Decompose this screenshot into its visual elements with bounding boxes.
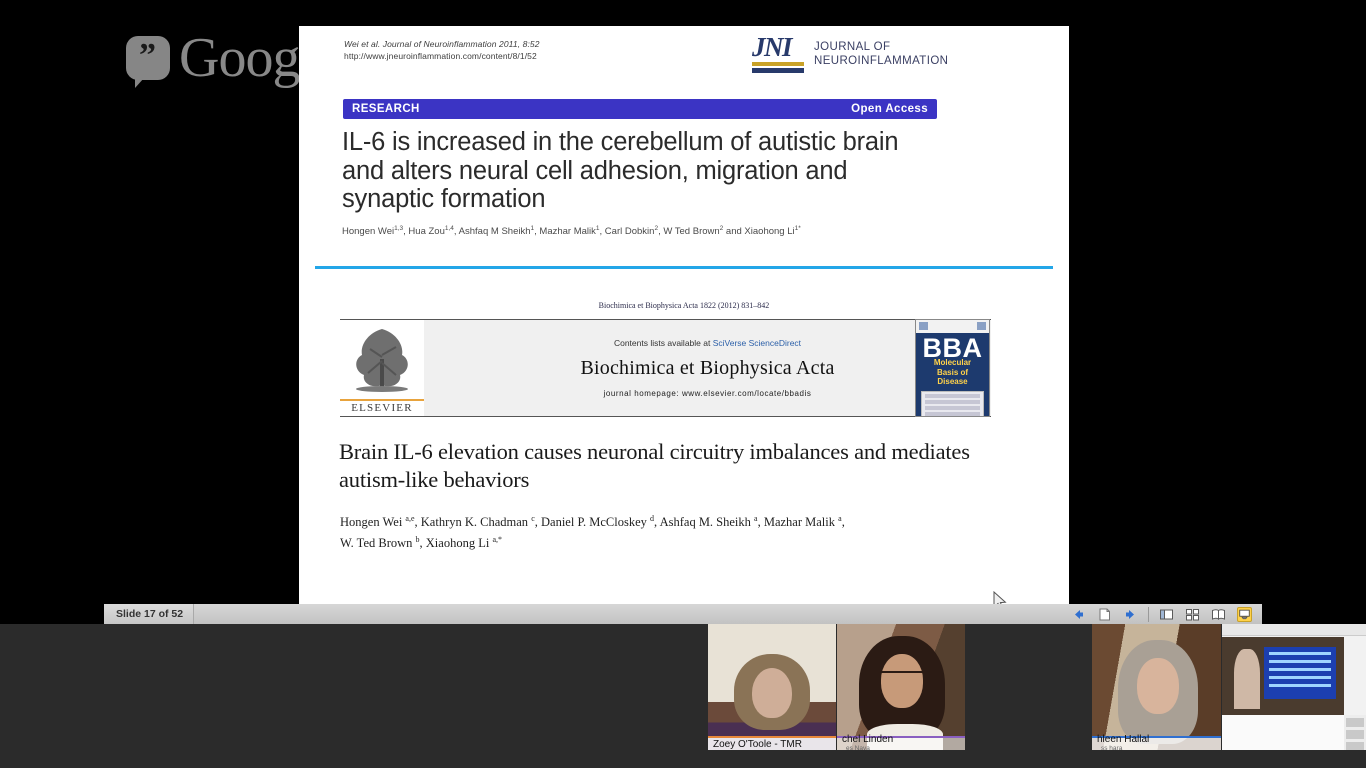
participant-name-stack-3: hleen Hallal ss hara — [1097, 735, 1149, 750]
bba-homepage: journal homepage: www.elsevier.com/locat… — [604, 389, 812, 398]
bba-cover-thumbnail: BBA Molecular Basis of Disease — [915, 319, 990, 417]
jni-article-authors: Hongen Wei1,3, Hua Zou1,4, Ashfaq M Shei… — [342, 222, 962, 238]
research-open-access-bar: RESEARCH Open Access — [343, 99, 937, 119]
jni-reference-line1: Wei et al. Journal of Neuroinflammation … — [344, 38, 774, 50]
quote-glyph: ” — [126, 36, 170, 80]
shared-screen-viewer[interactable]: Wei et al. Journal of Neuroinflammation … — [299, 26, 1069, 604]
reading-view-button[interactable] — [1211, 607, 1226, 622]
lecture-video-frame — [1222, 637, 1344, 715]
avatar-glasses — [881, 671, 923, 679]
elsevier-logo: ELSEVIER — [340, 320, 424, 416]
jni-logo: JNI JOURNAL OF NEUROINFLAMMATION — [752, 34, 948, 73]
bba-article-title: Brain IL-6 elevation causes neuronal cir… — [339, 438, 1039, 494]
jni-logo-name: JOURNAL OF NEUROINFLAMMATION — [814, 40, 948, 68]
presentation-slide: Wei et al. Journal of Neuroinflammation … — [299, 26, 1069, 604]
avatar-face — [1137, 658, 1179, 714]
slide-menu-button[interactable] — [1097, 607, 1112, 622]
participant-filmstrip: Zoey O'Toole - TMR chel Linden es Nava L… — [0, 624, 1366, 768]
jni-logo-rule-gold — [752, 62, 804, 66]
bba-citation: Biochimica et Biophysica Acta 1822 (2012… — [299, 301, 1069, 310]
lecturer-figure — [1234, 649, 1260, 709]
slide-sorter-button[interactable] — [1185, 607, 1200, 622]
navigation-buttons — [1061, 607, 1148, 622]
projected-slide — [1264, 647, 1336, 699]
jni-logo-mark: JNI — [752, 34, 804, 73]
jni-logo-rule-navy — [752, 68, 804, 73]
bba-header-center: Contents lists available at SciVerse Sci… — [424, 320, 991, 416]
elsevier-wordmark: ELSEVIER — [340, 399, 424, 414]
participant-tile-3[interactable]: hleen Hallal ss hara — [1092, 624, 1221, 750]
elsevier-tree-icon — [346, 323, 418, 393]
view-mode-buttons — [1149, 607, 1262, 622]
participant-tile-2[interactable]: chel Linden es Nava — [837, 624, 965, 750]
related-videos-list — [1344, 715, 1366, 750]
browser-chrome-bar — [1222, 624, 1366, 636]
bba-article-authors: Hongen Wei a,e, Kathryn K. Chadman c, Da… — [340, 510, 1000, 552]
participant-name-2-label: chel Linden — [842, 735, 893, 744]
slide-divider-rule — [315, 266, 1053, 269]
jni-reference-line2: http://www.jneuroinflammation.com/conten… — [344, 50, 774, 62]
participant-video-2 — [837, 624, 965, 750]
participant-name-stack-2: chel Linden es Nava — [842, 735, 893, 750]
mouse-cursor — [993, 591, 1007, 604]
jni-reference: Wei et al. Journal of Neuroinflammation … — [344, 38, 774, 62]
avatar-face — [752, 668, 792, 718]
arrow-right-icon — [1123, 607, 1138, 622]
open-access-label: Open Access — [851, 103, 928, 115]
bba-cover-figure — [921, 391, 984, 418]
participant-video-4 — [1222, 624, 1366, 750]
jni-logo-name-line2: NEUROINFLAMMATION — [814, 54, 948, 68]
bba-cover-subtitle-2: Basis of — [916, 368, 989, 378]
slide-status: Slide 17 of 52 — [104, 604, 194, 624]
avatar-face — [881, 654, 923, 708]
hangouts-bubble-icon: ” — [126, 36, 170, 80]
research-label: RESEARCH — [352, 103, 420, 115]
bba-contents-prefix: Contents lists available at — [614, 338, 713, 348]
arrow-left-icon — [1071, 607, 1086, 622]
participant-subtitle-3: ss hara — [1101, 744, 1149, 750]
presentation-toolbar[interactable]: Slide 17 of 52 — [104, 604, 1262, 624]
jni-logo-letters: JNI — [752, 34, 804, 61]
page-menu-icon — [1097, 607, 1112, 622]
normal-view-icon — [1159, 607, 1174, 622]
participant-video-1 — [708, 624, 836, 750]
slideshow-button[interactable] — [1237, 607, 1252, 622]
participant-name-2: chel Linden es Nava — [837, 736, 965, 750]
participant-video-3 — [1092, 624, 1221, 750]
jni-article-title: IL-6 is increased in the cerebellum of a… — [342, 128, 942, 214]
participant-name-3-label: hleen Hallal — [1097, 735, 1149, 744]
participant-name-1: Zoey O'Toole - TMR — [708, 736, 836, 750]
bba-journal-name: Biochimica et Biophysica Acta — [580, 357, 834, 380]
bba-authors-line1: Hongen Wei a,e, Kathryn K. Chadman c, Da… — [340, 510, 1000, 531]
slideshow-icon — [1238, 608, 1251, 621]
bba-contents-line: Contents lists available at SciVerse Sci… — [614, 338, 801, 348]
bba-journal-header: ELSEVIER Contents lists available at Sci… — [340, 319, 991, 417]
participant-name-3: hleen Hallal ss hara — [1092, 736, 1221, 750]
reading-view-icon — [1211, 607, 1226, 622]
bba-authors-line2: W. Ted Brown b, Xiaohong Li a,* — [340, 531, 1000, 552]
video-description-area — [1222, 715, 1344, 750]
participant-tile-1[interactable]: Zoey O'Toole - TMR — [708, 624, 836, 750]
hangouts-screenshare-window: ” Google Wei et al. Journal of Neuroinfl… — [0, 0, 1366, 768]
jni-logo-name-line1: JOURNAL OF — [814, 40, 948, 54]
participant-subtitle-2: es Nava — [846, 744, 893, 750]
participant-tile-4-screenshare[interactable] — [1222, 624, 1366, 750]
bba-cover-top-strip — [916, 320, 989, 333]
slide-sorter-icon — [1185, 607, 1200, 622]
previous-slide-button[interactable] — [1071, 607, 1086, 622]
sciencedirect-link[interactable]: SciVerse ScienceDirect — [713, 338, 801, 348]
bba-cover-subtitle-3: Disease — [916, 377, 989, 387]
next-slide-button[interactable] — [1123, 607, 1138, 622]
normal-view-button[interactable] — [1159, 607, 1174, 622]
